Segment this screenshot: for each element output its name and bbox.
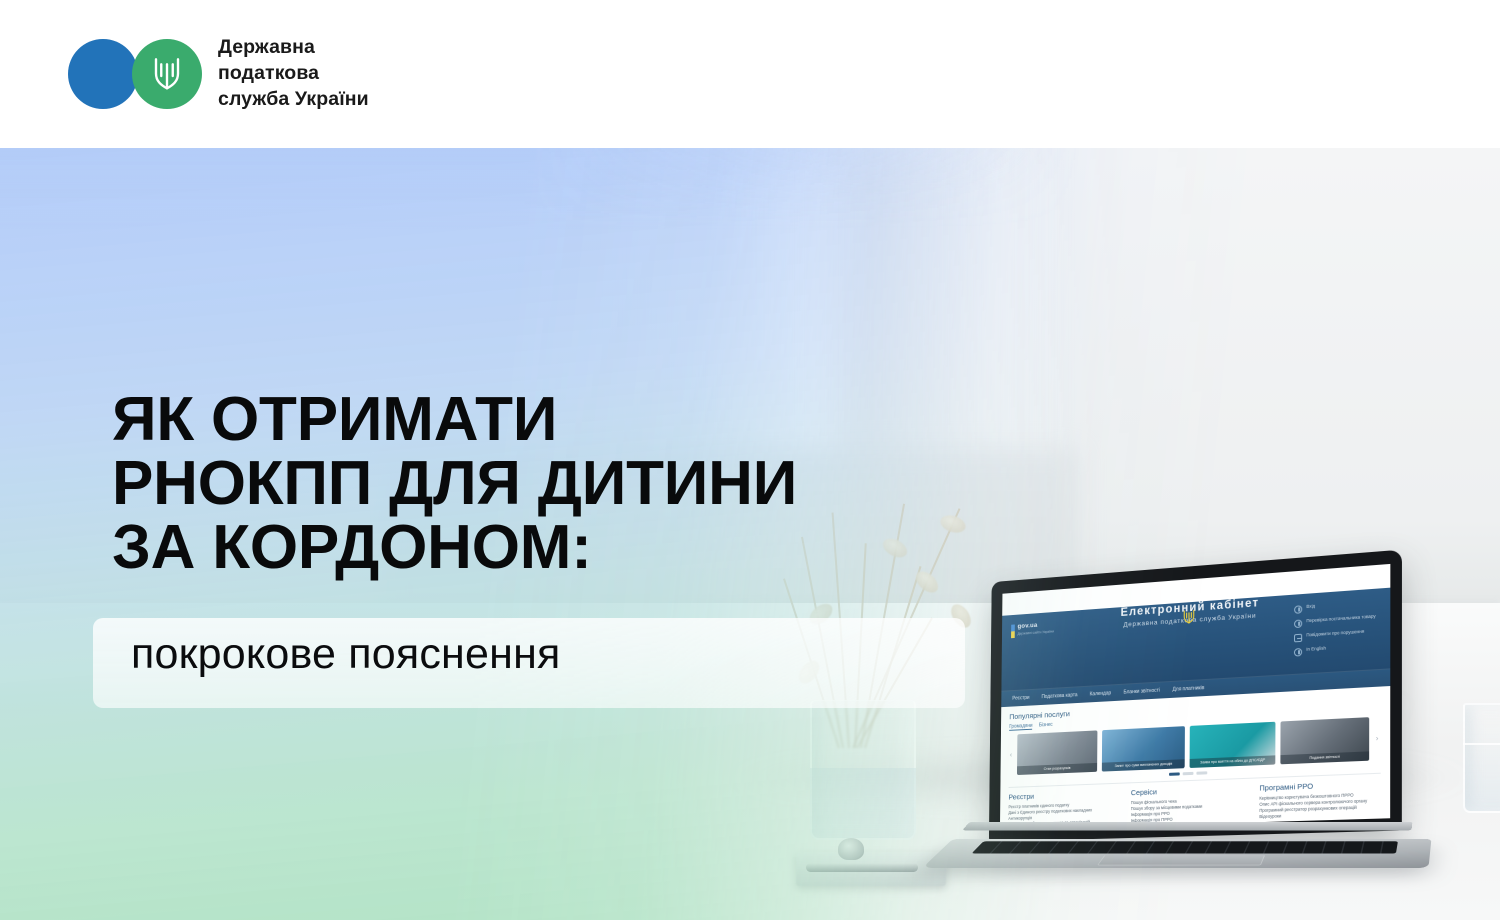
- logo-blue-circle: [68, 39, 138, 109]
- laptop: gov.ua Державні сайти України Електронни…: [930, 566, 1430, 916]
- laptop-keyboard: [972, 841, 1398, 853]
- logo-marks: [68, 39, 202, 109]
- ek-column-services: Сервіси Пошук фіскального чека Пошук збо…: [1131, 783, 1247, 824]
- ek-link-check-supplier[interactable]: Перевірка постачальника товару: [1294, 613, 1383, 628]
- ek-column-heading: Програмні РРО: [1259, 778, 1380, 792]
- ek-column-heading: Реєстри: [1008, 788, 1118, 801]
- ek-service-card-caption: Заява про взяття на облік до ДПС/ЄДР: [1190, 756, 1276, 768]
- laptop-lid: gov.ua Державні сайти України Електронни…: [989, 550, 1402, 842]
- ek-service-card[interactable]: Подання звітності: [1281, 717, 1370, 764]
- ek-link-english[interactable]: In English: [1294, 642, 1383, 656]
- laptop-base: [922, 839, 1431, 868]
- carousel-next-icon[interactable]: ›: [1375, 735, 1380, 742]
- ek-top-links: Вхід Перевірка постачальника товару Пові…: [1294, 599, 1383, 662]
- ek-column-software-rro: Програмні РРО Керівництво користувача бе…: [1259, 778, 1380, 820]
- ek-link-login-label: Вхід: [1306, 603, 1315, 610]
- carousel-dot[interactable]: [1183, 772, 1194, 775]
- laptop-trackpad: [1097, 855, 1265, 865]
- ek-link-columns: Реєстри Реєстр платників єдиного податку…: [1008, 772, 1380, 828]
- site-header: Державна податкова служба України: [0, 0, 1500, 148]
- ek-nav-tax-map[interactable]: Податкова карта: [1041, 692, 1077, 700]
- ek-column-heading: Сервіси: [1131, 783, 1246, 796]
- vase-water: [810, 768, 916, 840]
- globe-icon: [1294, 647, 1302, 656]
- ek-nav-calendar[interactable]: Календар: [1090, 690, 1111, 697]
- ek-nav-for-payers[interactable]: Для платників: [1172, 685, 1204, 693]
- ek-main-content: Популярні послуги Громадяни Бізнес ‹ Ста…: [1000, 686, 1390, 829]
- carousel-dot[interactable]: [1196, 771, 1207, 774]
- logo-green-circle: [132, 39, 202, 109]
- laptop-screen: gov.ua Державні сайти України Електронни…: [1000, 564, 1390, 830]
- trident-icon: [152, 55, 182, 93]
- ek-service-card-caption: Подання звітності: [1281, 752, 1370, 765]
- ek-nav-report-forms[interactable]: Бланки звітності: [1123, 688, 1159, 696]
- ek-link-english-label: In English: [1306, 645, 1326, 652]
- carousel-prev-icon[interactable]: ‹: [1009, 751, 1013, 758]
- carousel-dot[interactable]: [1169, 772, 1180, 775]
- page-subtitle: покрокове пояснення: [131, 630, 561, 679]
- alert-icon: [1294, 633, 1302, 642]
- user-icon: [1294, 605, 1302, 614]
- metal-pen: [806, 863, 918, 872]
- laptop-hinge: [962, 822, 1412, 830]
- pen-holder-knob: [838, 838, 864, 860]
- info-icon: [1294, 619, 1302, 628]
- ek-service-card[interactable]: Запит про суми виплачених доходів: [1102, 726, 1185, 771]
- brand-logo[interactable]: Державна податкова служба України: [68, 35, 369, 112]
- ek-link-report-violation[interactable]: Повідомити про порушення: [1294, 627, 1383, 641]
- ek-service-card-caption: Стан розрахунків: [1017, 763, 1097, 775]
- ek-link-report-violation-label: Повідомити про порушення: [1306, 629, 1364, 639]
- poster-canvas: gov.ua Державні сайти України Електронни…: [0, 0, 1500, 920]
- page-title: ЯК ОТРИМАТИ РНОКПП ДЛЯ ДИТИНИ ЗА КОРДОНО…: [112, 388, 992, 580]
- ek-tab-citizens[interactable]: Громадяни: [1009, 723, 1032, 731]
- ek-service-card[interactable]: Стан розрахунків: [1017, 730, 1097, 775]
- water-glass: [1463, 703, 1500, 813]
- ek-service-card-caption: Запит про суми виплачених доходів: [1102, 759, 1185, 771]
- ek-link-check-supplier-label: Перевірка постачальника товару: [1306, 613, 1375, 624]
- ek-nav-registries[interactable]: Реєстри: [1012, 695, 1029, 702]
- ek-tab-business[interactable]: Бізнес: [1039, 722, 1053, 729]
- brand-name: Державна податкова служба України: [218, 35, 369, 112]
- ek-service-card[interactable]: Заява про взяття на облік до ДПС/ЄДР: [1190, 722, 1276, 768]
- hero-title-wrap: ЯК ОТРИМАТИ РНОКПП ДЛЯ ДИТИНИ ЗА КОРДОНО…: [112, 388, 992, 580]
